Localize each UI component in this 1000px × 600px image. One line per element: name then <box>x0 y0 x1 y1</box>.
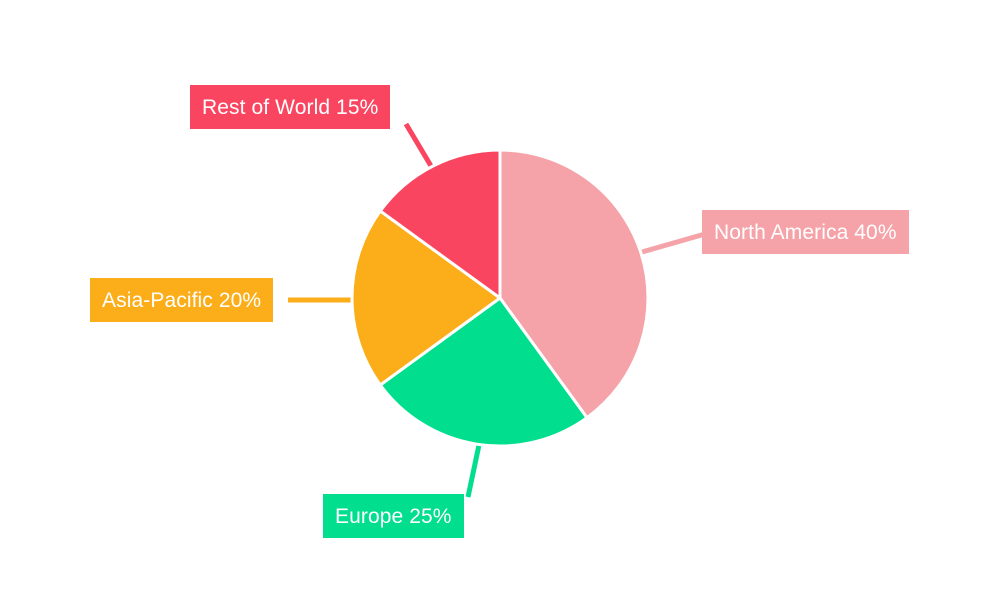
pie-label-north-america[interactable]: North America 40% <box>702 210 909 254</box>
pie-label-rest-of-world[interactable]: Rest of World 15% <box>190 85 390 129</box>
pie-label-europe-text: Europe 25% <box>335 506 452 527</box>
pie-chart-figure: North America 40% Europe 25% Asia-Pacifi… <box>0 0 1000 600</box>
pie-label-asia-pacific[interactable]: Asia-Pacific 20% <box>90 278 273 322</box>
pie-label-north-america-text: North America 40% <box>714 222 897 243</box>
pie-wedges <box>352 150 648 446</box>
pie-label-asia-pacific-text: Asia-Pacific 20% <box>102 290 261 311</box>
leader-line-rest-of-world <box>406 124 434 171</box>
pie-label-europe[interactable]: Europe 25% <box>323 494 464 538</box>
leader-line-europe <box>468 445 479 497</box>
pie-label-rest-of-world-text: Rest of World 15% <box>202 97 378 118</box>
